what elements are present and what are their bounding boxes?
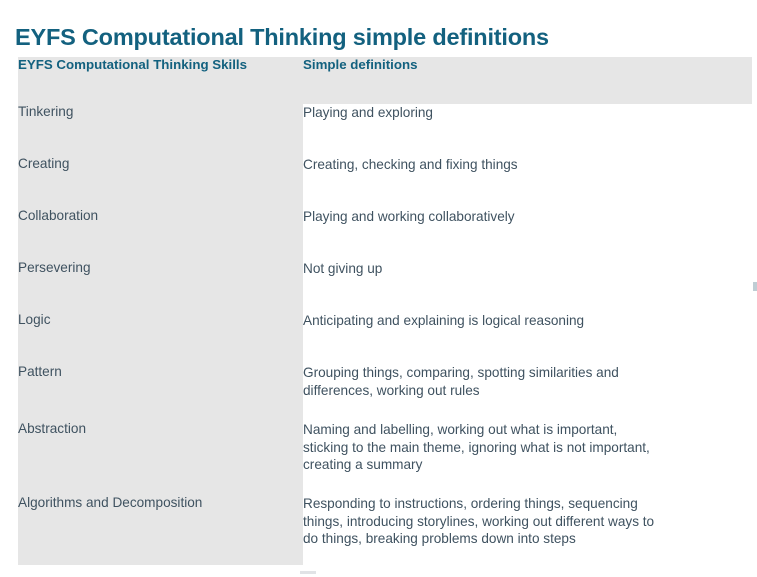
skill-cell: Abstraction — [18, 421, 303, 495]
skill-cell: Persevering — [18, 260, 303, 312]
table-row: CreatingCreating, checking and fixing th… — [18, 156, 752, 208]
skill-cell: Collaboration — [18, 208, 303, 260]
table-row: CollaborationPlaying and working collabo… — [18, 208, 752, 260]
skill-cell: Algorithms and Decomposition — [18, 495, 303, 565]
definition-line: Anticipating and explaining is logical r… — [303, 312, 752, 330]
right-edge-artifact — [753, 282, 757, 291]
table-row: AbstractionNaming and labelling, working… — [18, 421, 752, 495]
bottom-clipped-artifact — [300, 571, 316, 574]
definition-line: Not giving up — [303, 260, 752, 278]
definition-cell: Creating, checking and fixing things — [303, 156, 752, 208]
definition-cell: Responding to instructions, ordering thi… — [303, 495, 752, 565]
document-page: EYFS Computational Thinking simple defin… — [0, 0, 757, 577]
definition-line: creating a summary — [303, 456, 752, 474]
definition-cell: Naming and labelling, working out what i… — [303, 421, 752, 495]
definition-line: Responding to instructions, ordering thi… — [303, 495, 752, 513]
definition-line: Playing and working collaboratively — [303, 208, 752, 226]
definitions-table: EYFS Computational Thinking Skills Simpl… — [18, 57, 752, 565]
definition-cell: Playing and exploring — [303, 104, 752, 156]
definition-line: Creating, checking and fixing things — [303, 156, 752, 174]
definition-line: sticking to the main theme, ignoring wha… — [303, 439, 752, 457]
definition-line: things, introducing storylines, working … — [303, 513, 752, 531]
skill-cell: Pattern — [18, 364, 303, 421]
definition-cell: Playing and working collaboratively — [303, 208, 752, 260]
skill-cell: Logic — [18, 312, 303, 364]
table-row: LogicAnticipating and explaining is logi… — [18, 312, 752, 364]
definition-cell: Anticipating and explaining is logical r… — [303, 312, 752, 364]
page-title: EYFS Computational Thinking simple defin… — [15, 22, 735, 52]
definition-cell: Not giving up — [303, 260, 752, 312]
definition-line: do things, breaking problems down into s… — [303, 530, 752, 548]
table-row: Algorithms and DecompositionResponding t… — [18, 495, 752, 565]
skill-cell: Tinkering — [18, 104, 303, 156]
definition-line: Playing and exploring — [303, 104, 752, 122]
definition-line: Naming and labelling, working out what i… — [303, 421, 752, 439]
definition-cell: Grouping things, comparing, spotting sim… — [303, 364, 752, 421]
column-header-skills: EYFS Computational Thinking Skills — [18, 57, 303, 104]
table-row: PerseveringNot giving up — [18, 260, 752, 312]
definition-line: differences, working out rules — [303, 382, 752, 400]
skill-cell: Creating — [18, 156, 303, 208]
definition-line: Grouping things, comparing, spotting sim… — [303, 364, 752, 382]
table-header: EYFS Computational Thinking Skills Simpl… — [18, 57, 752, 104]
table-row: PatternGrouping things, comparing, spott… — [18, 364, 752, 421]
table-row: TinkeringPlaying and exploring — [18, 104, 752, 156]
table-header-row: EYFS Computational Thinking Skills Simpl… — [18, 57, 752, 104]
column-header-definitions: Simple definitions — [303, 57, 752, 104]
table-body: TinkeringPlaying and exploringCreatingCr… — [18, 104, 752, 565]
